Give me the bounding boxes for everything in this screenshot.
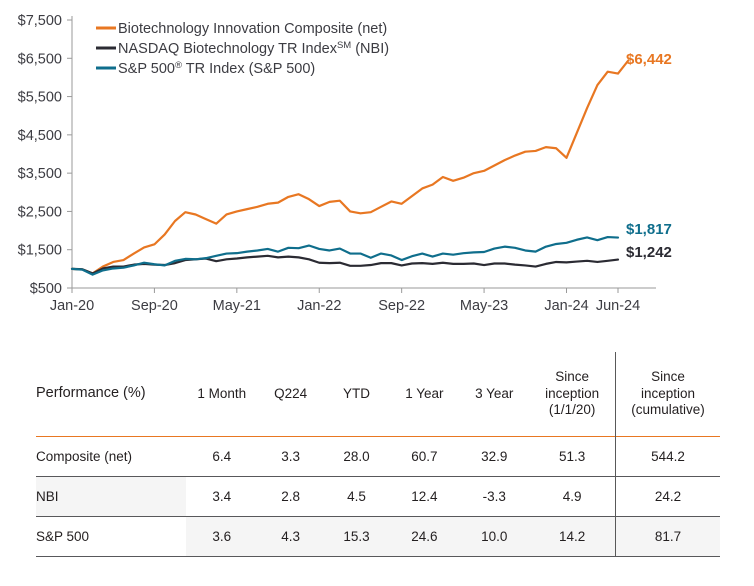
cell-nbi-1-month: 3.4 xyxy=(186,477,258,517)
table-row: Composite (net) 6.4 3.3 28.0 60.7 32.9 5… xyxy=(36,437,720,477)
since-inception-line1: Since xyxy=(555,369,589,384)
since-inception-line3: (1/1/20) xyxy=(549,402,596,417)
row-label-nbi: NBI xyxy=(36,477,186,517)
cell-sp500-1-month: 3.6 xyxy=(186,517,258,557)
x-tick-label: Sep-20 xyxy=(131,298,178,314)
cell-nbi-since-inception: 4.9 xyxy=(529,477,615,517)
performance-growth-chart: $7,500$6,500$5,500$4,500$3,500$2,500$1,5… xyxy=(0,0,754,330)
y-tick-label: $5,500 xyxy=(18,90,62,106)
y-tick-label: $6,500 xyxy=(18,51,62,67)
cell-sp500-since-inception: 14.2 xyxy=(529,517,615,557)
legend-label: Biotechnology Innovation Composite (net) xyxy=(118,21,387,37)
x-tick-label: Jan-24 xyxy=(544,298,588,314)
performance-table: Performance (%) 1 Month Q224 YTD 1 Year … xyxy=(36,352,720,557)
table-row: S&P 500 3.6 4.3 15.3 24.6 10.0 14.2 81.7 xyxy=(36,517,720,557)
cell-sp500-q224: 4.3 xyxy=(258,517,324,557)
cumulative-line2: inception xyxy=(641,386,695,401)
cumulative-line3: (cumulative) xyxy=(631,402,705,417)
cell-nbi-cumulative: 24.2 xyxy=(616,477,720,517)
series-end-value-label: $6,442 xyxy=(626,51,672,68)
column-header-ytd: YTD xyxy=(324,352,390,437)
cell-sp500-cumulative: 81.7 xyxy=(616,517,720,557)
cumulative-line1: Since xyxy=(651,369,685,384)
column-header-1-year: 1 Year xyxy=(389,352,459,437)
series-end-value-label: $1,817 xyxy=(626,221,672,238)
cell-composite-ytd: 28.0 xyxy=(324,437,390,477)
x-tick-label: Jan-22 xyxy=(297,298,341,314)
row-label-sp500: S&P 500 xyxy=(36,517,186,557)
column-header-since-inception: Since inception (1/1/20) xyxy=(529,352,615,437)
column-header-1-month: 1 Month xyxy=(186,352,258,437)
x-tick-label: May-23 xyxy=(460,298,508,314)
x-tick-label: Jan-20 xyxy=(50,298,94,314)
series-end-value-label: $1,242 xyxy=(626,244,672,261)
cell-composite-1-year: 60.7 xyxy=(389,437,459,477)
series-line xyxy=(72,61,628,274)
column-header-q224: Q224 xyxy=(258,352,324,437)
cell-nbi-3-year: -3.3 xyxy=(459,477,529,517)
series-line xyxy=(72,237,618,275)
legend-label: NASDAQ Biotechnology TR IndexSM (NBI) xyxy=(118,40,389,58)
since-inception-line2: inception xyxy=(545,386,599,401)
y-tick-label: $3,500 xyxy=(18,166,62,182)
cell-sp500-ytd: 15.3 xyxy=(324,517,390,557)
cell-nbi-q224: 2.8 xyxy=(258,477,324,517)
legend-label: S&P 500® TR Index (S&P 500) xyxy=(118,60,315,78)
cell-nbi-1-year: 12.4 xyxy=(389,477,459,517)
chart-canvas: $7,500$6,500$5,500$4,500$3,500$2,500$1,5… xyxy=(0,0,754,330)
y-tick-label: $2,500 xyxy=(18,204,62,220)
cell-composite-since-inception: 51.3 xyxy=(529,437,615,477)
row-label-composite: Composite (net) xyxy=(36,437,186,477)
cell-sp500-1-year: 24.6 xyxy=(389,517,459,557)
column-header-performance: Performance (%) xyxy=(36,352,186,437)
cell-composite-q224: 3.3 xyxy=(258,437,324,477)
table-body: Composite (net) 6.4 3.3 28.0 60.7 32.9 5… xyxy=(36,437,720,557)
column-header-3-year: 3 Year xyxy=(459,352,529,437)
cell-sp500-3-year: 10.0 xyxy=(459,517,529,557)
table-header: Performance (%) 1 Month Q224 YTD 1 Year … xyxy=(36,352,720,437)
cell-composite-3-year: 32.9 xyxy=(459,437,529,477)
table-row: NBI 3.4 2.8 4.5 12.4 -3.3 4.9 24.2 xyxy=(36,477,720,517)
cell-composite-cumulative: 544.2 xyxy=(616,437,720,477)
x-tick-label: May-21 xyxy=(213,298,261,314)
performance-table-container: Performance (%) 1 Month Q224 YTD 1 Year … xyxy=(36,352,720,557)
cell-composite-1-month: 6.4 xyxy=(186,437,258,477)
y-tick-label: $500 xyxy=(30,281,62,297)
y-tick-label: $4,500 xyxy=(18,128,62,144)
cell-nbi-ytd: 4.5 xyxy=(324,477,390,517)
column-header-since-inception-cumulative: Since inception (cumulative) xyxy=(616,352,720,437)
table-header-row: Performance (%) 1 Month Q224 YTD 1 Year … xyxy=(36,352,720,437)
x-tick-label: Jun-24 xyxy=(596,298,640,314)
y-tick-label: $7,500 xyxy=(18,13,62,29)
y-tick-label: $1,500 xyxy=(18,243,62,259)
x-tick-label: Sep-22 xyxy=(378,298,425,314)
